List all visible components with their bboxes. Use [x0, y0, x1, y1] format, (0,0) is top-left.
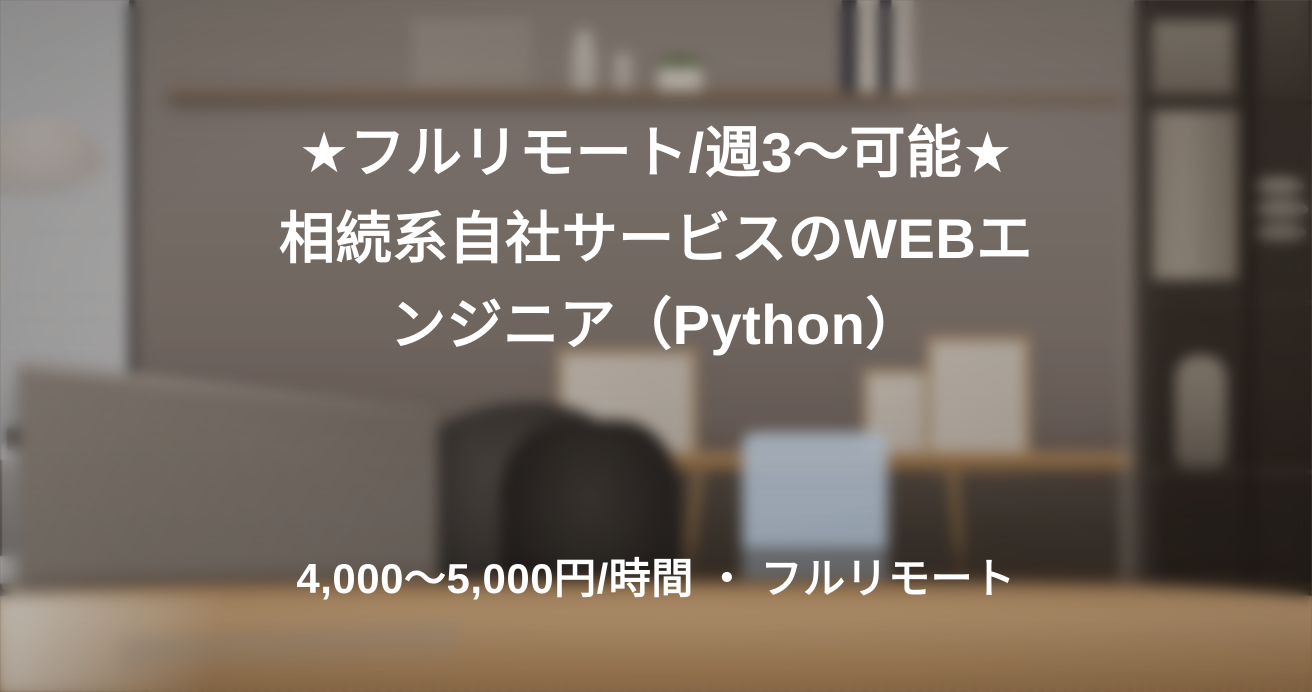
banner-headline: ★フルリモート/週3〜可能★相続系自社サービスのWEBエンジニア（Python） — [276, 110, 1036, 368]
banner-subtitle: 4,000〜5,000円/時間 ・ フルリモート — [106, 548, 1206, 610]
job-posting-banner: ★フルリモート/週3〜可能★相続系自社サービスのWEBエンジニア（Python）… — [0, 0, 1312, 692]
banner-content: ★フルリモート/週3〜可能★相続系自社サービスのWEBエンジニア（Python）… — [0, 0, 1312, 692]
